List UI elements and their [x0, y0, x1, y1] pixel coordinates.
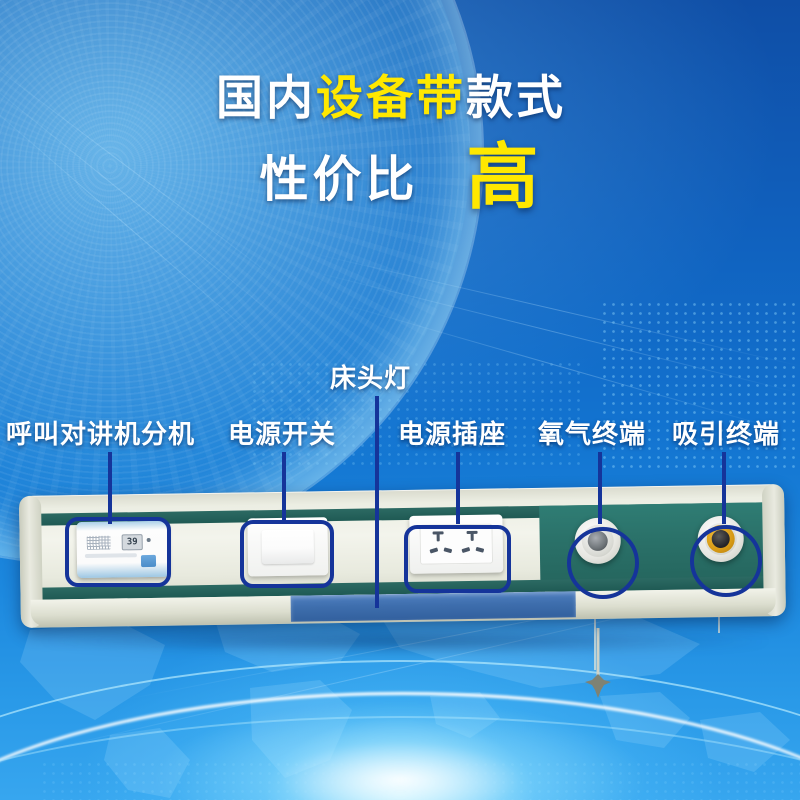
- pointer-line-power-switch: [282, 452, 286, 524]
- highlight-box-power-socket: [404, 525, 511, 593]
- pointer-line-oxygen: [598, 452, 602, 524]
- callout-label-power-switch: 电源开关: [228, 414, 336, 451]
- pointer-line-suction: [722, 452, 726, 524]
- headline-subtitle: 性价比: [259, 153, 418, 207]
- headline-line-2: 性价比高: [0, 137, 800, 220]
- callout-label-power-socket: 电源插座: [398, 414, 506, 451]
- highlight-circle-suction: [690, 525, 762, 597]
- headline-part-3: 款式: [466, 71, 566, 124]
- headline-block: 国内设备带款式 性价比高: [0, 72, 800, 219]
- headline-part-1: 国内: [216, 71, 316, 124]
- callout-label-oxygen: 氧气终端: [538, 414, 646, 451]
- pull-cord-handle[interactable]: [580, 628, 616, 713]
- panel-shadow: [40, 628, 770, 654]
- highlight-box-intercom: [65, 517, 171, 587]
- headline-line-1: 国内设备带款式: [0, 72, 782, 125]
- callout-label-suction: 吸引终端: [672, 414, 780, 451]
- callout-label-group: 呼叫对讲机分机 电源开关 床头灯 电源插座 氧气终端 吸引终端: [0, 352, 800, 462]
- promo-banner: 国内设备带款式 性价比高 呼叫对讲机分机 电源开关 床头灯 电源插座 氧气终端 …: [0, 0, 800, 800]
- highlight-box-power-switch: [240, 520, 334, 588]
- callout-label-intercom: 呼叫对讲机分机: [6, 414, 195, 451]
- pointer-line-power-socket: [456, 452, 460, 524]
- highlight-circle-oxygen: [567, 527, 639, 599]
- headline-part-2: 设备带: [316, 71, 466, 124]
- bed-lamp-rail[interactable]: [291, 591, 576, 621]
- headline-emphasis: 高: [467, 138, 541, 218]
- callout-label-bed-lamp: 床头灯: [330, 358, 411, 395]
- pointer-line-intercom: [108, 452, 112, 524]
